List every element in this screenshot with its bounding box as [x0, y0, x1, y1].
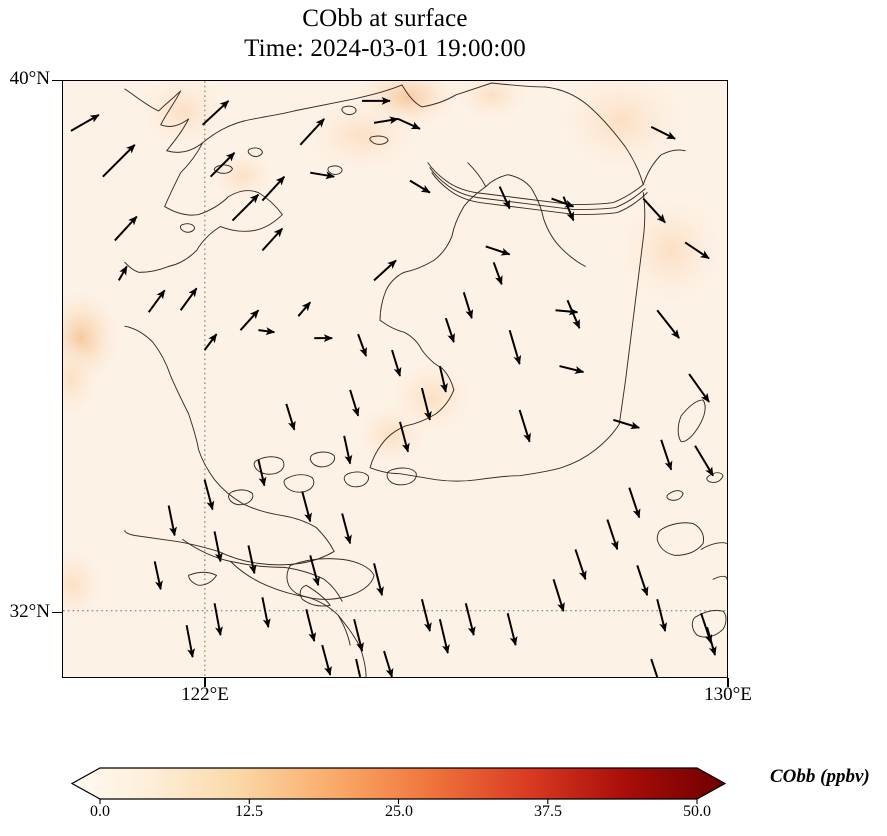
colorbar-tick-1: 12.5 [235, 803, 263, 821]
xtick-mark-130e [727, 678, 728, 687]
colorbar-tick-3: 37.5 [534, 803, 562, 821]
xtick-mark-122e [204, 678, 205, 687]
map-canvas [63, 81, 727, 677]
colorbar-tick-2: 25.0 [385, 803, 413, 821]
figure-title: CObb at surface [0, 4, 770, 34]
map-plot-area[interactable] [62, 80, 728, 678]
xtick-label-130e: 130°E [704, 684, 752, 706]
colorbar-canvas [0, 752, 887, 836]
figure-title-block: CObb at surface Time: 2024-03-01 19:00:0… [0, 4, 770, 64]
ytick-mark-40n [52, 80, 62, 81]
figure-canvas: CObb at surface Time: 2024-03-01 19:00:0… [0, 0, 887, 836]
colorbar[interactable]: 0.0 12.5 25.0 37.5 50.0 CObb (ppbv) [0, 752, 887, 836]
colorbar-tick-4: 50.0 [683, 803, 711, 821]
ytick-label-40n: 40°N [0, 68, 50, 90]
ytick-mark-32n [52, 612, 62, 613]
colorbar-tick-0: 0.0 [90, 803, 110, 821]
figure-subtitle-time: Time: 2024-03-01 19:00:00 [0, 34, 770, 64]
colorbar-gradient-bar [72, 768, 725, 799]
xtick-label-122e: 122°E [181, 684, 229, 706]
ytick-label-32n: 32°N [0, 601, 50, 623]
colorbar-label: CObb (ppbv) [770, 766, 870, 788]
